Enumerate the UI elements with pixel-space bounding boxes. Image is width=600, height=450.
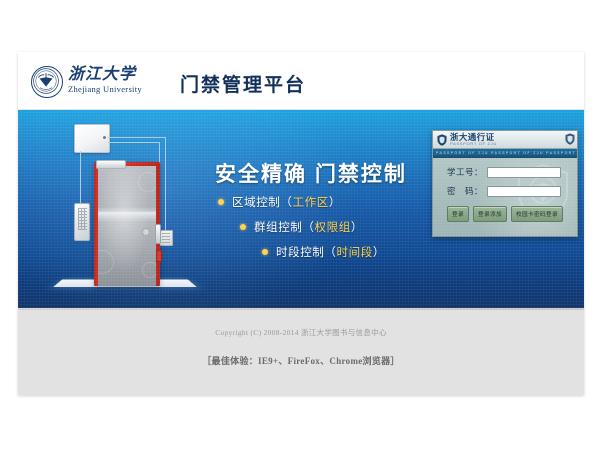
feature-item-group: 群组控制（ 权限组 ） [218, 219, 385, 235]
login-panel: 浙大通行证 PASSPORT OF ZJU PASSPORT OF ZJU PA… [432, 130, 578, 237]
wire-top-1 [108, 137, 166, 138]
door-strike-icon [156, 250, 162, 262]
keypad-card-reader-icon [74, 203, 90, 241]
corner-shield-icon [565, 133, 575, 145]
feature-label: 时段控制（ [276, 244, 337, 260]
login-form: 学工号： 密 码： 登录 登录添加 校园卡密码登录 [433, 158, 577, 237]
login-panel-titlebar: 浙大通行证 PASSPORT OF ZJU [433, 131, 577, 149]
bullet-icon [240, 224, 246, 230]
door-decor-1 [98, 250, 114, 274]
form-row-password: 密 码： [439, 185, 577, 197]
login-button-row: 登录 登录添加 校园卡密码登录 [433, 206, 577, 222]
feature-suffix: ） [373, 244, 385, 260]
feature-accent: 工作区 [293, 194, 329, 210]
feature-accent: 时间段 [337, 244, 373, 260]
door-leaf [98, 166, 156, 286]
wire-top-2 [108, 142, 160, 143]
site-header: 浙江大学 Zhejiang University 门禁管理平台 [18, 52, 584, 110]
passport-pattern-strip: PASSPORT OF ZJU PASSPORT OF ZJU PASSPORT… [433, 149, 577, 158]
form-row-userid: 学工号： [439, 166, 577, 178]
door-closer-icon [96, 160, 126, 169]
password-label: 密 码： [439, 185, 483, 197]
secured-door [94, 162, 160, 286]
door-access-illustration [36, 118, 216, 300]
feature-list: 区域控制（ 工作区 ） 群组控制（ 权限组 ） 时段控制（ 时间段 ） [218, 194, 385, 269]
login-title-wrap: 浙大通行证 PASSPORT OF ZJU [450, 133, 497, 147]
site-footer: Copyright (C) 2008-2014 浙江大学图书与信息中心 ［最佳体… [18, 308, 584, 395]
page-title: 门禁管理平台 [180, 70, 306, 97]
control-box-led-icon [103, 136, 106, 139]
university-name-en: Zhejiang University [68, 85, 158, 94]
campus-card-login-button[interactable]: 校园卡密码登录 [511, 206, 563, 222]
door-card-reader-icon [159, 230, 173, 246]
login-title-en: PASSPORT OF ZJU [450, 142, 497, 146]
passport-strip-text: PASSPORT OF ZJU PASSPORT OF ZJU PASSPORT… [433, 151, 577, 155]
feature-item-time: 时段控制（ 时间段 ） [218, 244, 385, 260]
browser-support-note: ［最佳体验：IE9+、FireFox、Chrome浏览器］ [18, 338, 584, 367]
feature-item-area: 区域控制（ 工作区 ） [218, 194, 385, 210]
feature-suffix: ） [351, 219, 363, 235]
login-button[interactable]: 登录 [447, 206, 469, 222]
passport-shield-icon [437, 134, 447, 146]
hero-banner: 安全精确 门禁控制 区域控制（ 工作区 ） 群组控制（ 权限组 ） 时段控制（ … [18, 110, 584, 308]
login-title-zh: 浙大通行证 [450, 133, 497, 142]
wire-down-1 [165, 137, 166, 237]
door-decor-2 [138, 172, 156, 192]
feature-accent: 权限组 [315, 219, 351, 235]
bullet-icon [218, 199, 224, 205]
copyright-text: Copyright (C) 2008-2014 浙江大学图书与信息中心 [18, 309, 584, 338]
university-wordmark: 浙江大学 Zhejiang University [68, 67, 158, 94]
door-handle-icon [155, 224, 161, 244]
bullet-icon [262, 249, 268, 255]
userid-label: 学工号： [439, 166, 483, 178]
site-page: 浙江大学 Zhejiang University 门禁管理平台 [18, 52, 584, 395]
password-input[interactable] [487, 186, 561, 197]
door-knob-icon [142, 228, 150, 236]
login-add-button[interactable]: 登录添加 [473, 206, 507, 222]
university-name-zh: 浙江大学 [68, 67, 158, 83]
feature-label: 区域控制（ [232, 194, 293, 210]
wire-to-keypad [80, 151, 81, 203]
zju-seal-icon [31, 66, 63, 98]
banner-headline: 安全精确 门禁控制 [215, 158, 407, 188]
door-decor-3 [142, 262, 156, 278]
userid-input[interactable] [487, 167, 561, 178]
feature-suffix: ） [329, 194, 341, 210]
feature-label: 群组控制（ [254, 219, 315, 235]
access-control-box-icon [74, 124, 110, 153]
